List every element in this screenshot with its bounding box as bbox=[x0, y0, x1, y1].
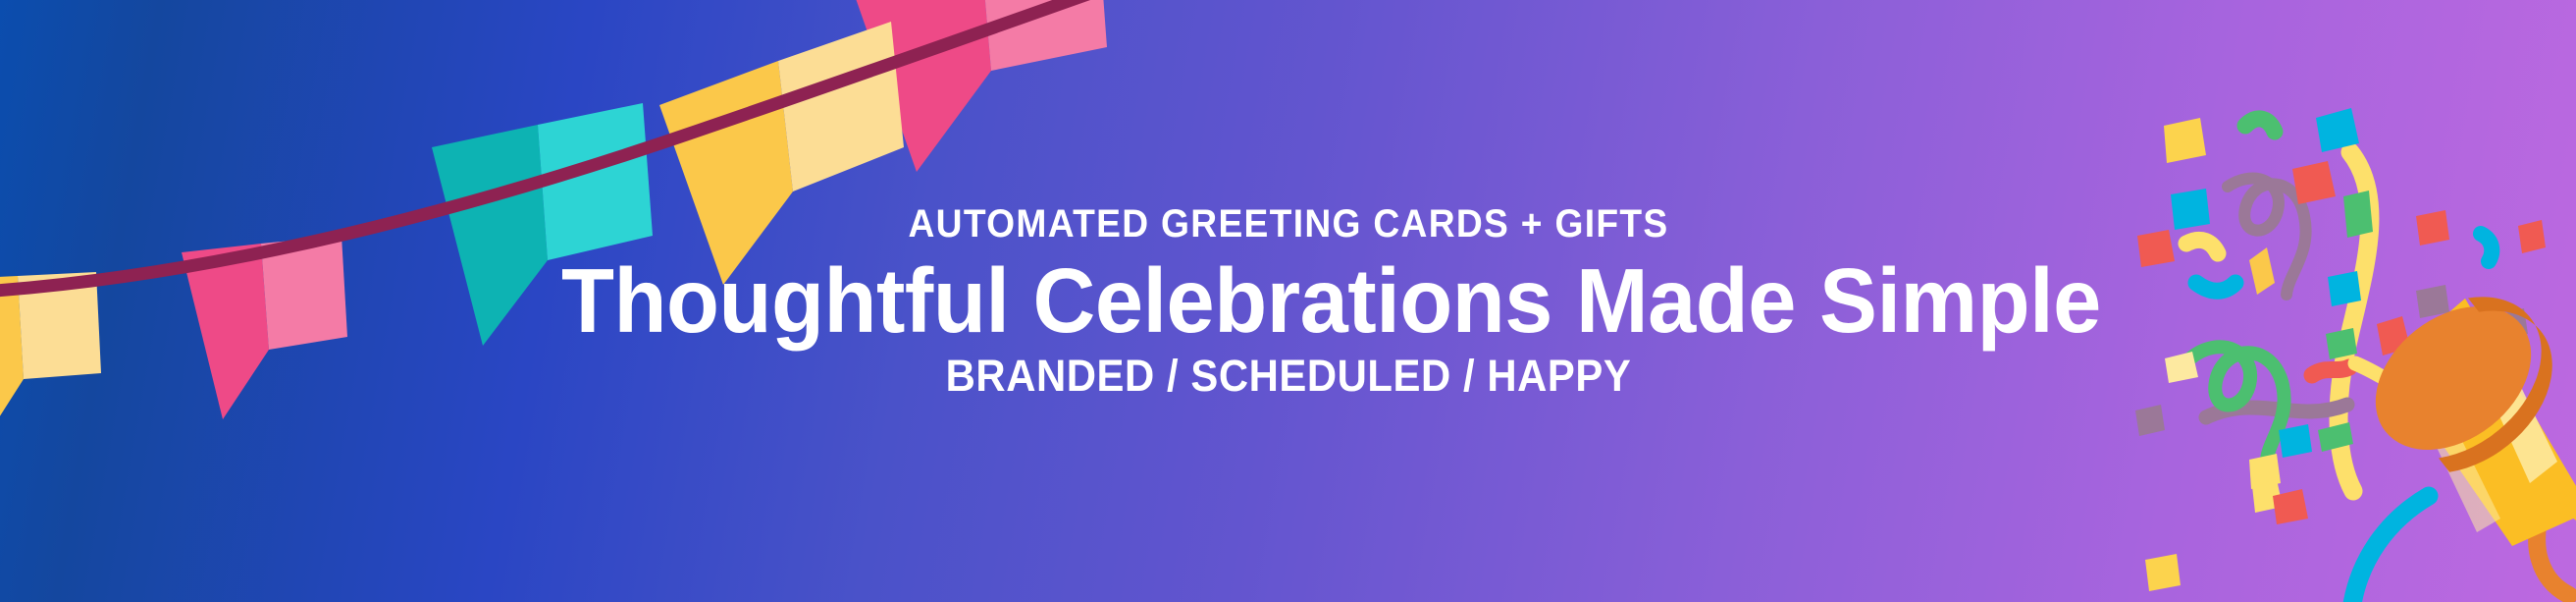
banner-headline: Thoughtful Celebrations Made Simple bbox=[561, 253, 2016, 349]
banner-subline: BRANDED / SCHEDULED / HAPPY bbox=[576, 354, 2000, 398]
banner-text-block: AUTOMATED GREETING CARDS + GIFTS Thought… bbox=[523, 204, 2054, 399]
celebration-banner: AUTOMATED GREETING CARDS + GIFTS Thought… bbox=[0, 0, 2576, 602]
banner-eyebrow: AUTOMATED GREETING CARDS + GIFTS bbox=[576, 204, 2000, 244]
